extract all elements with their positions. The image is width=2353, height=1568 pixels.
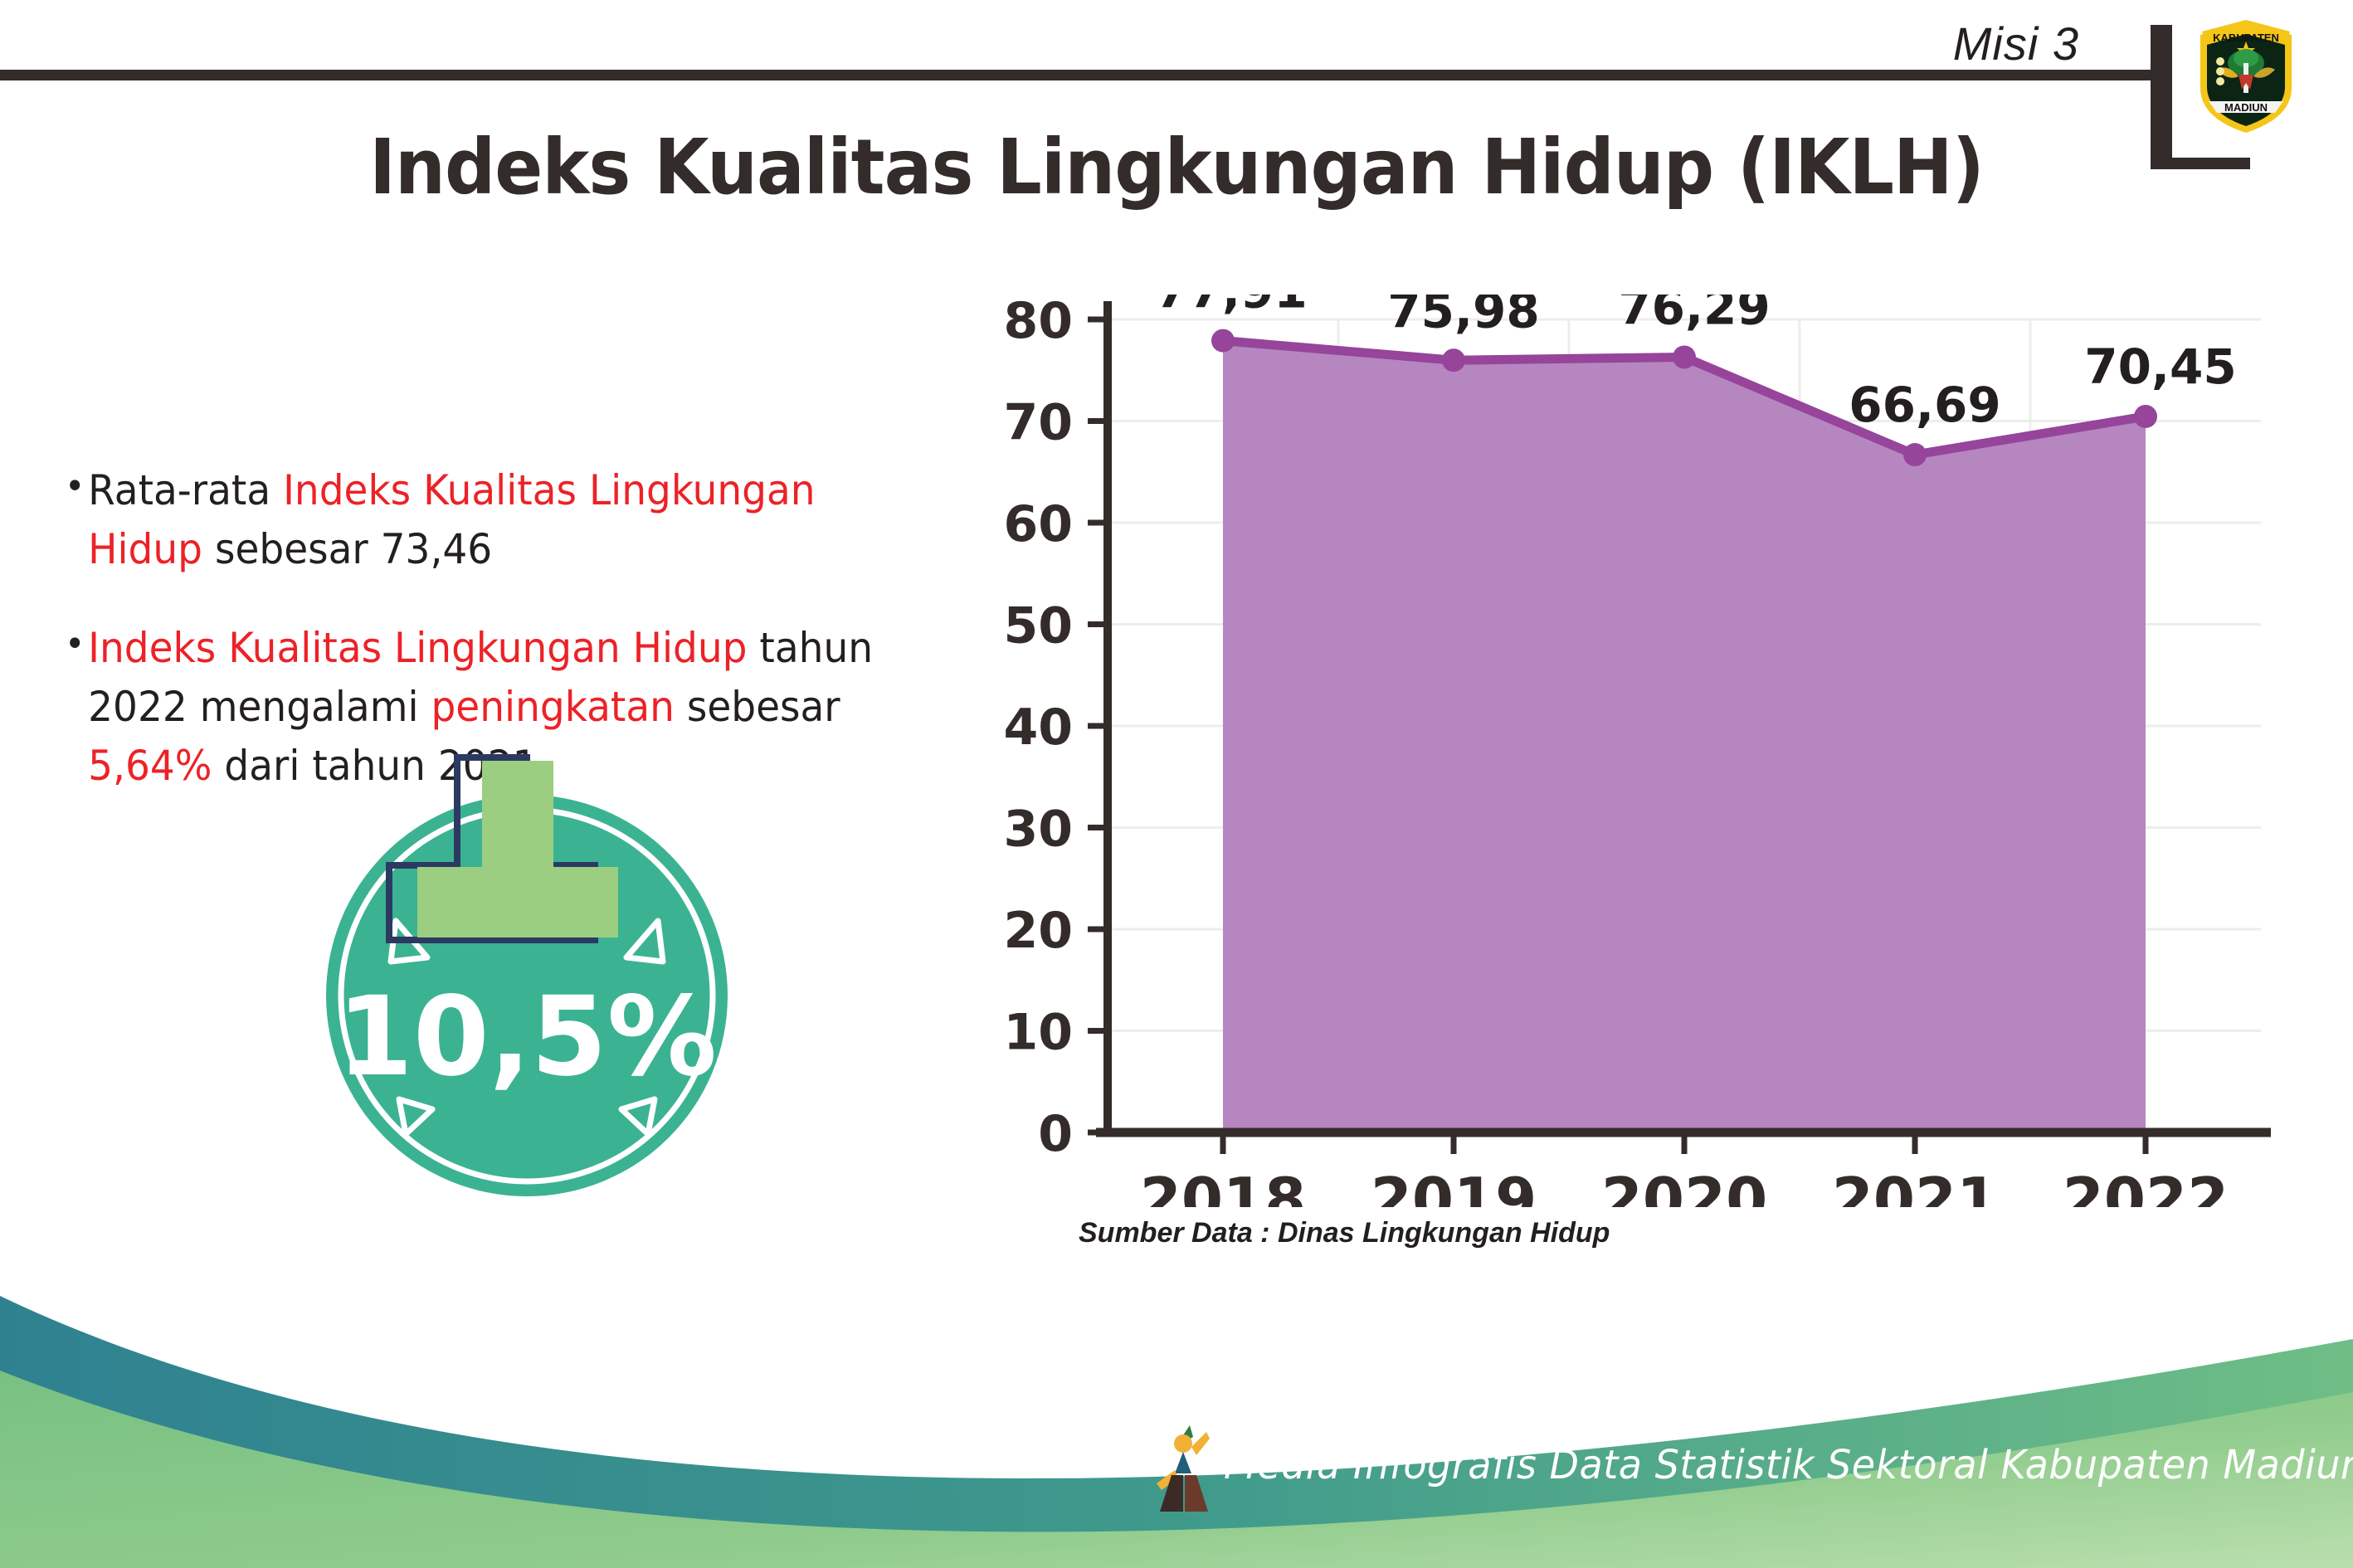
bullet-segment: Indeks Kualitas Lingkungan Hidup [88, 624, 747, 672]
footer-decoration [0, 1269, 2353, 1568]
data-point-marker [1903, 443, 1927, 466]
y-axis-tick-label: 70 [1004, 394, 1074, 452]
data-point-label: 76,29 [1618, 295, 1770, 335]
header-bracket-top [2151, 25, 2172, 75]
data-point-marker [1673, 345, 1696, 368]
x-axis-tick-label: 2018 [1140, 1165, 1306, 1207]
increase-badge: 10,5% [319, 751, 734, 1203]
bullet-segment: sebesar [675, 683, 840, 731]
source-note: Sumber Data : Dinas Lingkungan Hidup [1079, 1217, 1610, 1249]
bullet-segment: 5,64% [88, 742, 212, 790]
bullet-marker: • [65, 619, 85, 670]
x-axis-tick-label: 2020 [1601, 1165, 1767, 1207]
x-axis-tick-label: 2022 [2063, 1165, 2229, 1207]
kabupaten-madiun-crest-icon: KABUPATEN MADIUN [2192, 12, 2300, 136]
y-axis-tick-label: 20 [1004, 902, 1074, 960]
bullet-item-average: • Rata-rata Indeks Kualitas Lingkungan H… [65, 461, 899, 579]
x-axis-tick-label: 2021 [1832, 1165, 1998, 1207]
bullet-text: Rata-rata Indeks Kualitas Lingkungan Hid… [88, 461, 899, 579]
y-axis-tick-label: 10 [1004, 1004, 1074, 1062]
header-rule [0, 70, 2151, 80]
footer-text: Media Infografis Data Statistik Sektoral… [1224, 1442, 2353, 1488]
statistics-figure-icon [1147, 1422, 1221, 1513]
y-axis-tick-label: 40 [1004, 699, 1074, 757]
data-point-marker [1211, 329, 1235, 353]
crest-bottom-text: MADIUN [2224, 101, 2268, 114]
misi-label: Misi 3 [1953, 17, 2079, 71]
data-point-marker [1442, 348, 1465, 372]
page-title: Indeks Kualitas Lingkungan Hidup (IKLH) [82, 123, 2270, 212]
badge-value: 10,5% [337, 973, 717, 1101]
y-axis-tick-label: 0 [1038, 1105, 1073, 1163]
data-point-label: 66,69 [1849, 377, 2000, 433]
y-axis-tick-label: 80 [1004, 295, 1074, 350]
x-axis-tick-label: 2019 [1371, 1165, 1537, 1207]
bullet-segment: sebesar 73,46 [202, 525, 492, 573]
data-point-label: 70,45 [2084, 338, 2236, 395]
chart-area-fill [1223, 341, 2146, 1132]
data-point-label: 75,98 [1387, 295, 1539, 338]
iklh-area-chart: 77,9175,9876,2966,6970,45010203040506070… [983, 295, 2277, 1207]
bullet-segment: peningkatan [431, 683, 674, 731]
bullet-marker: • [65, 461, 85, 513]
y-axis-tick-label: 50 [1004, 597, 1074, 655]
bullet-segment: Rata-rata [88, 466, 283, 514]
infographic-page: Misi 3 KABUPATEN MADIUN Indeks Kualitas … [0, 0, 2353, 1568]
data-point-marker [2134, 405, 2157, 428]
y-axis-tick-label: 30 [1004, 801, 1074, 859]
y-axis-tick-label: 60 [1004, 495, 1074, 553]
data-point-label: 77,91 [1155, 295, 1307, 319]
